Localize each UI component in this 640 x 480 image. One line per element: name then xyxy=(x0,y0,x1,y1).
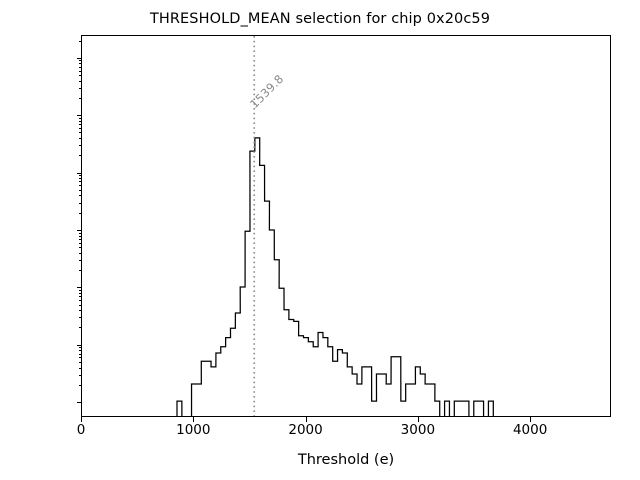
y-axis-minor-tick xyxy=(79,243,82,244)
y-axis-minor-tick xyxy=(79,350,82,351)
y-axis-tick xyxy=(77,230,82,231)
y-axis-minor-tick xyxy=(79,354,82,355)
y-axis-minor-tick xyxy=(79,310,82,311)
x-axis-tick xyxy=(81,417,82,422)
x-axis-tick-label: 0 xyxy=(77,422,86,438)
y-axis-minor-tick xyxy=(79,236,82,237)
y-axis-minor-tick xyxy=(79,296,82,297)
y-axis-minor-tick xyxy=(79,60,82,61)
y-axis-minor-tick xyxy=(79,138,82,139)
y-axis-tick xyxy=(77,287,82,288)
y-axis-minor-tick xyxy=(79,185,82,186)
chart-figure: THRESHOLD_MEAN selection for chip 0x20c5… xyxy=(0,0,640,480)
y-axis-minor-tick xyxy=(79,203,82,204)
y-axis-minor-tick xyxy=(79,175,82,176)
y-axis-tick xyxy=(77,345,82,346)
y-axis-minor-tick xyxy=(79,247,82,248)
y-axis-minor-tick xyxy=(79,233,82,234)
x-axis-tick xyxy=(418,417,419,422)
y-axis-minor-tick xyxy=(79,368,82,369)
y-axis-minor-tick xyxy=(79,75,82,76)
histogram-plot xyxy=(82,36,610,416)
y-axis-minor-tick xyxy=(79,124,82,125)
y-axis-minor-tick xyxy=(79,305,82,306)
y-axis-minor-tick xyxy=(79,67,82,68)
y-axis-minor-tick xyxy=(79,253,82,254)
y-axis-minor-tick xyxy=(79,81,82,82)
y-axis-minor-tick xyxy=(79,155,82,156)
x-axis-tick xyxy=(193,417,194,422)
y-axis-tick xyxy=(77,402,82,403)
y-axis-minor-tick xyxy=(79,98,82,99)
y-axis-minor-tick xyxy=(79,362,82,363)
page-title: THRESHOLD_MEAN selection for chip 0x20c5… xyxy=(0,11,640,27)
y-axis-minor-tick xyxy=(79,132,82,133)
y-axis-minor-tick xyxy=(79,181,82,182)
x-axis-tick-label: 4000 xyxy=(513,422,547,438)
y-axis-minor-tick xyxy=(79,213,82,214)
y-axis-minor-tick xyxy=(79,63,82,64)
y-axis-minor-tick xyxy=(79,239,82,240)
y-axis-minor-tick xyxy=(79,317,82,318)
y-axis-minor-tick xyxy=(79,195,82,196)
y-axis-tick xyxy=(77,173,82,174)
x-axis-tick xyxy=(306,417,307,422)
y-axis-minor-tick xyxy=(79,71,82,72)
y-axis-minor-tick xyxy=(79,347,82,348)
y-axis-minor-tick xyxy=(79,375,82,376)
histogram-step-outline xyxy=(177,138,493,416)
y-axis-minor-tick xyxy=(79,190,82,191)
y-axis-minor-tick xyxy=(79,327,82,328)
y-axis-minor-tick xyxy=(79,300,82,301)
x-axis-label: Threshold (e) xyxy=(81,452,611,468)
y-axis-minor-tick xyxy=(79,260,82,261)
y-axis-minor-tick xyxy=(79,178,82,179)
y-axis-minor-tick xyxy=(79,145,82,146)
y-axis-minor-tick xyxy=(79,41,82,42)
x-axis-tick-label: 1000 xyxy=(176,422,210,438)
plot-area xyxy=(81,35,611,417)
y-axis-tick xyxy=(77,115,82,116)
y-axis-minor-tick xyxy=(79,121,82,122)
y-axis-minor-tick xyxy=(79,128,82,129)
y-axis-minor-tick xyxy=(79,293,82,294)
y-axis-minor-tick xyxy=(79,270,82,271)
y-axis-minor-tick xyxy=(79,118,82,119)
x-axis-tick-label: 3000 xyxy=(401,422,435,438)
x-axis-tick-label: 2000 xyxy=(288,422,322,438)
y-axis-minor-tick xyxy=(79,88,82,89)
y-axis-minor-tick xyxy=(79,290,82,291)
y-axis-minor-tick xyxy=(79,385,82,386)
x-axis-tick xyxy=(530,417,531,422)
y-axis-minor-tick xyxy=(79,357,82,358)
y-axis-tick xyxy=(77,58,82,59)
